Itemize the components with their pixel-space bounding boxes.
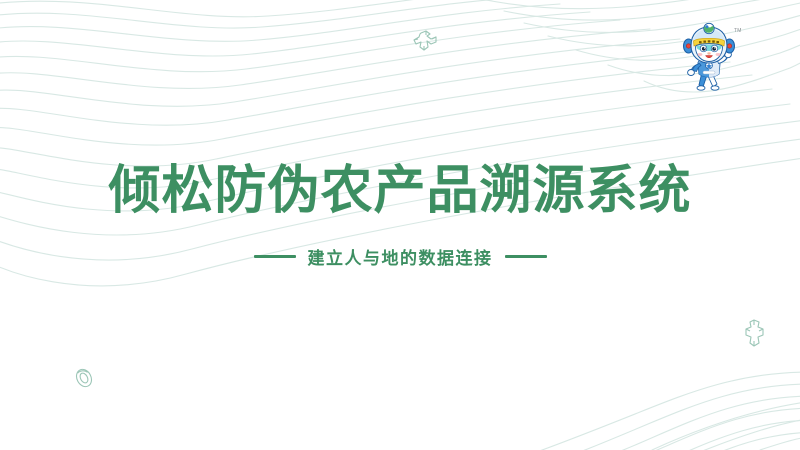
subtitle-rule-left — [254, 255, 296, 258]
subtitle-row: 建立人与地的数据连接 — [0, 244, 800, 269]
page-title: 倾松防伪农产品溯源系统 — [0, 160, 800, 222]
subtitle-rule-right — [505, 255, 547, 258]
iso-ring-ornament-left — [72, 366, 96, 395]
bottom-right-contour-waves — [520, 372, 800, 450]
title-block: 倾松防伪农产品溯源系统 建立人与地的数据连接 — [0, 160, 800, 269]
iso-cross-ornament-bottom-right — [742, 318, 768, 353]
top-right-contour-waves — [470, 0, 800, 92]
iso-cross-ornament-top — [412, 30, 438, 63]
trademark-mark: TM — [734, 28, 742, 34]
title-slide: TM 倾松防伪农产品溯源系统 建立人与地的数据连接 — [0, 0, 800, 450]
page-subtitle: 建立人与地的数据连接 — [308, 244, 493, 269]
mascot-globe-emblem — [704, 23, 714, 33]
mascot-logo — [678, 22, 740, 92]
